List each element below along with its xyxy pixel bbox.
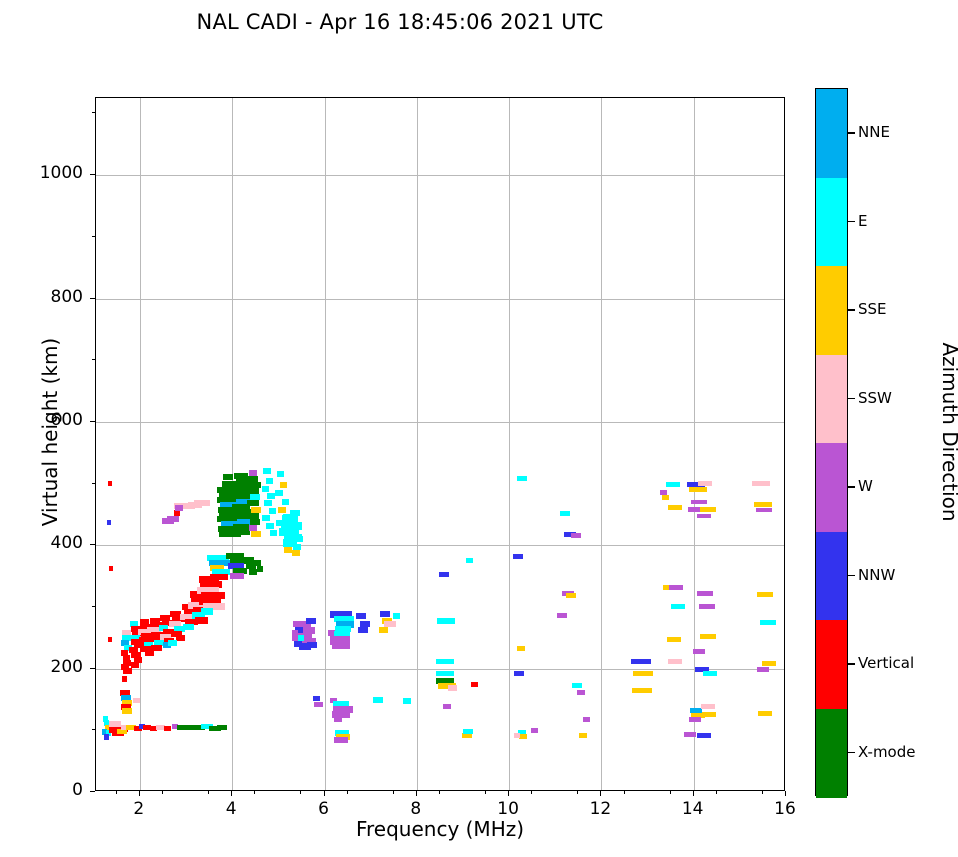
- x-tick-minor: [531, 791, 532, 794]
- echo-point: [278, 507, 286, 513]
- echo-point: [757, 667, 769, 672]
- echo-point: [697, 514, 711, 518]
- x-tick-label: 4: [201, 799, 261, 819]
- echo-point: [697, 591, 713, 596]
- echo-point: [176, 635, 185, 641]
- echo-point: [107, 520, 111, 525]
- echo-point: [313, 696, 320, 701]
- echo-point: [247, 488, 259, 494]
- colorbar-segment-vertical: [816, 620, 847, 709]
- colorbar-label-nne: NNE: [858, 123, 890, 141]
- echo-point: [280, 482, 287, 488]
- echo-point: [689, 717, 701, 722]
- echo-point: [236, 529, 250, 535]
- x-tick-label: 10: [478, 799, 538, 819]
- echo-point: [689, 487, 707, 492]
- echo-point: [701, 704, 715, 709]
- echo-point: [133, 698, 140, 703]
- colorbar-segment-sse: [816, 266, 847, 355]
- echo-point: [531, 728, 538, 733]
- echo-point: [246, 476, 258, 482]
- echo-point: [109, 566, 113, 571]
- x-tick-minor: [762, 791, 763, 794]
- y-tick-minor: [92, 359, 95, 360]
- echo-point: [471, 682, 478, 687]
- echo-point: [762, 661, 776, 666]
- echo-point: [201, 608, 213, 615]
- echo-point: [262, 515, 270, 521]
- echo-point: [267, 493, 275, 499]
- echo-point: [264, 500, 272, 506]
- x-tick-minor: [670, 791, 671, 794]
- x-tick-label: 6: [294, 799, 354, 819]
- x-tick-minor: [300, 791, 301, 794]
- figure-title: NAL CADI - Apr 16 18:45:06 2021 UTC: [0, 10, 800, 34]
- echo-point: [293, 544, 301, 550]
- x-tick-mark: [508, 791, 509, 796]
- echo-point: [266, 523, 274, 529]
- echo-point: [697, 733, 711, 738]
- echo-point: [666, 482, 680, 487]
- echo-point: [270, 530, 277, 536]
- colorbar-segment-nnw: [816, 532, 847, 621]
- echo-point: [123, 668, 132, 674]
- y-tick-label: 1000: [13, 163, 83, 183]
- colorbar-segment-nne: [816, 89, 847, 178]
- echo-point: [662, 495, 669, 500]
- y-tick-mark: [90, 174, 95, 175]
- x-tick-minor: [439, 791, 440, 794]
- echo-point: [380, 611, 390, 617]
- echo-point: [103, 716, 108, 722]
- y-tick-minor: [92, 729, 95, 730]
- echo-point: [217, 725, 227, 730]
- y-tick-minor: [92, 483, 95, 484]
- echo-point: [290, 510, 300, 516]
- y-tick-mark: [90, 791, 95, 792]
- ionogram-figure: NAL CADI - Apr 16 18:45:06 2021 UTC 2468…: [0, 0, 958, 857]
- echo-point: [667, 637, 681, 642]
- x-tick-mark: [693, 791, 694, 796]
- x-tick-minor: [485, 791, 486, 794]
- y-tick-mark: [90, 298, 95, 299]
- echo-point: [307, 642, 317, 648]
- echo-point: [693, 649, 705, 654]
- echo-point: [632, 688, 652, 693]
- y-tick-mark: [90, 668, 95, 669]
- echo-point: [691, 500, 707, 504]
- x-tick-minor: [254, 791, 255, 794]
- echo-point: [393, 613, 400, 619]
- echo-point: [298, 635, 304, 641]
- echo-point: [513, 554, 523, 559]
- echo-point: [247, 500, 259, 506]
- echo-point: [700, 507, 716, 512]
- colorbar-segment-w: [816, 443, 847, 532]
- colorbar-tick: [848, 663, 855, 664]
- x-tick-label: 8: [386, 799, 446, 819]
- echo-point: [249, 569, 257, 575]
- echo-point: [572, 683, 582, 688]
- echo-point: [703, 671, 717, 676]
- colorbar-title: Azimuth Direction: [938, 282, 958, 582]
- echo-point: [403, 698, 411, 704]
- plot-area: [95, 97, 785, 791]
- y-tick-label: 200: [13, 657, 83, 677]
- x-tick-minor: [208, 791, 209, 794]
- echo-point: [699, 604, 715, 609]
- echo-point: [373, 697, 383, 703]
- echo-point: [631, 659, 651, 664]
- echo-point: [269, 508, 276, 514]
- y-axis-title: Virtual height (km): [38, 282, 62, 582]
- echo-point: [334, 737, 348, 743]
- echo-point: [151, 645, 162, 651]
- echo-point: [439, 572, 449, 577]
- echo-point: [437, 618, 455, 624]
- echo-point: [756, 508, 772, 512]
- echo-point: [514, 671, 524, 676]
- y-tick-minor: [92, 236, 95, 237]
- echo-point: [702, 712, 716, 717]
- colorbar-segment-x-mode: [816, 709, 847, 798]
- echo-point: [752, 481, 770, 486]
- echo-point: [700, 634, 716, 639]
- echo-point: [108, 637, 112, 642]
- echo-point: [223, 474, 233, 480]
- colorbar-label-ssw: SSW: [858, 389, 892, 407]
- echo-point: [583, 717, 590, 722]
- echo-point: [443, 704, 451, 709]
- echo-point: [282, 499, 289, 505]
- echo-point: [384, 621, 396, 627]
- echo-point: [332, 642, 350, 649]
- y-tick-minor: [92, 112, 95, 113]
- echo-point: [254, 560, 261, 566]
- x-tick-label: 2: [109, 799, 169, 819]
- echo-point: [360, 621, 370, 627]
- x-tick-mark: [416, 791, 417, 796]
- x-tick-minor: [162, 791, 163, 794]
- echo-point: [249, 525, 257, 531]
- echo-point: [292, 550, 300, 556]
- echo-point: [757, 592, 773, 597]
- echo-point: [668, 659, 682, 664]
- echo-point: [266, 478, 273, 484]
- colorbar-segment-ssw: [816, 355, 847, 444]
- x-tick-label: 12: [570, 799, 630, 819]
- colorbar-label-e: E: [858, 212, 867, 230]
- x-tick-minor: [624, 791, 625, 794]
- colorbar-tick: [848, 575, 855, 576]
- echo-point: [579, 733, 587, 738]
- x-tick-minor: [577, 791, 578, 794]
- colorbar-tick: [848, 221, 855, 222]
- echo-point: [257, 566, 263, 572]
- colorbar-tick: [848, 486, 855, 487]
- y-tick-label: 0: [13, 780, 83, 800]
- echo-point: [108, 481, 112, 486]
- echo-point: [436, 671, 454, 676]
- colorbar: [815, 88, 848, 796]
- echo-point: [463, 729, 473, 734]
- colorbar-tick: [848, 309, 855, 310]
- echo-point: [194, 500, 210, 506]
- echo-point: [560, 511, 570, 516]
- echo-point: [247, 513, 259, 519]
- echo-point: [164, 726, 171, 731]
- echo-point: [293, 621, 299, 627]
- echo-point: [295, 536, 303, 542]
- echo-point: [684, 732, 696, 737]
- colorbar-label-sse: SSE: [858, 300, 887, 318]
- echo-point: [277, 471, 284, 477]
- echo-point: [517, 476, 527, 481]
- echo-point: [263, 468, 271, 474]
- colorbar-segment-e: [816, 178, 847, 267]
- x-tick-mark: [785, 791, 786, 796]
- echo-point: [698, 481, 712, 486]
- echo-point: [250, 519, 260, 525]
- x-tick-minor: [116, 791, 117, 794]
- echo-point: [247, 482, 261, 488]
- x-axis-title: Frequency (MHz): [95, 817, 785, 841]
- echo-point: [517, 646, 525, 651]
- echo-point: [466, 558, 473, 563]
- echo-point: [122, 708, 132, 714]
- echo-point: [669, 585, 683, 590]
- y-tick-minor: [92, 606, 95, 607]
- echo-point: [262, 486, 269, 492]
- echo-point: [754, 502, 772, 507]
- echo-point: [195, 617, 208, 624]
- echo-point: [168, 640, 177, 646]
- scatter-points: [96, 98, 784, 790]
- x-tick-mark: [139, 791, 140, 796]
- echo-point: [183, 624, 194, 630]
- echo-point: [571, 533, 581, 538]
- echo-point: [356, 613, 366, 619]
- echo-point: [379, 627, 388, 633]
- echo-point: [294, 641, 302, 647]
- colorbar-tick: [848, 752, 855, 753]
- echo-point: [758, 711, 772, 716]
- colorbar-label-x-mode: X-mode: [858, 743, 915, 761]
- echo-point: [448, 685, 457, 691]
- x-tick-minor: [347, 791, 348, 794]
- x-tick-label: 16: [755, 799, 815, 819]
- echo-point: [104, 734, 109, 740]
- echo-point: [760, 620, 776, 625]
- x-tick-mark: [600, 791, 601, 796]
- echo-point: [314, 702, 323, 707]
- echo-point: [210, 574, 228, 580]
- echo-point: [292, 630, 298, 636]
- echo-point: [275, 490, 283, 496]
- echo-point: [436, 659, 454, 664]
- colorbar-label-w: W: [858, 477, 873, 495]
- echo-point: [250, 494, 260, 500]
- echo-point: [358, 627, 368, 633]
- echo-point: [145, 650, 154, 656]
- y-tick-mark: [90, 421, 95, 422]
- echo-point: [633, 671, 653, 676]
- echo-point: [242, 557, 254, 563]
- x-tick-minor: [716, 791, 717, 794]
- echo-point: [122, 676, 127, 682]
- echo-point: [284, 547, 292, 553]
- echo-point: [249, 470, 257, 476]
- echo-point: [566, 593, 576, 598]
- echo-point: [306, 618, 316, 624]
- echo-point: [334, 717, 342, 722]
- x-tick-minor: [393, 791, 394, 794]
- x-tick-mark: [324, 791, 325, 796]
- echo-point: [167, 516, 179, 522]
- echo-point: [251, 507, 261, 513]
- echo-point: [577, 690, 585, 695]
- colorbar-tick: [848, 398, 855, 399]
- colorbar-label-nnw: NNW: [858, 566, 895, 584]
- y-tick-mark: [90, 544, 95, 545]
- echo-point: [557, 613, 567, 618]
- echo-point: [230, 573, 244, 579]
- colorbar-label-vertical: Vertical: [858, 654, 914, 672]
- x-tick-label: 14: [663, 799, 723, 819]
- echo-point: [251, 531, 261, 537]
- echo-point: [131, 662, 139, 668]
- echo-point: [671, 604, 685, 609]
- echo-point: [514, 733, 520, 738]
- echo-point: [109, 721, 121, 727]
- echo-point: [175, 505, 183, 511]
- colorbar-tick: [848, 132, 855, 133]
- echo-point: [668, 505, 682, 510]
- x-tick-mark: [231, 791, 232, 796]
